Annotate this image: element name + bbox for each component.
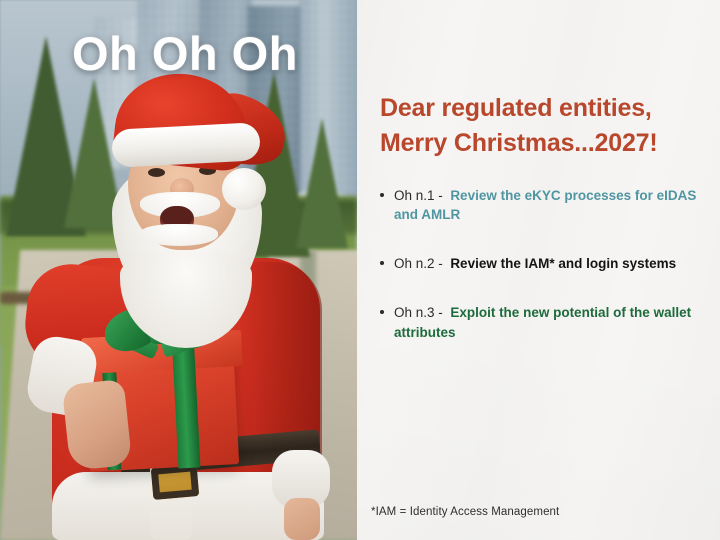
- bullet-list: Oh n.1 - Review the eKYC processes for e…: [377, 186, 715, 372]
- santa-hat-brim: [111, 122, 261, 168]
- heading-line-1: Dear regulated entities,: [380, 91, 710, 126]
- santa-photo: Oh Oh Oh: [0, 0, 357, 540]
- belt-buckle: [151, 464, 200, 500]
- beard-chin: [140, 224, 218, 246]
- content-panel: Dear regulated entities, Merry Christmas…: [357, 0, 720, 540]
- bullet-label-1: Oh n.1 -: [394, 188, 443, 203]
- bullet-text-2: Review the IAM* and login systems: [450, 256, 676, 271]
- bullet-label-3: Oh n.3 -: [394, 305, 443, 320]
- list-item: Oh n.1 - Review the eKYC processes for e…: [377, 186, 715, 224]
- santa-hat-pompom: [222, 168, 266, 210]
- santa-right-hand: [284, 498, 320, 540]
- santa-figure: [0, 0, 357, 540]
- page-title: Dear regulated entities, Merry Christmas…: [380, 91, 710, 160]
- list-item: Oh n.2 - Review the IAM* and login syste…: [377, 254, 715, 273]
- heading-line-2: Merry Christmas...2027!: [380, 126, 710, 161]
- santa-left-hand: [62, 379, 133, 471]
- footnote: *IAM = Identity Access Management: [371, 506, 559, 518]
- bullet-label-2: Oh n.2 -: [394, 256, 443, 271]
- list-item: Oh n.3 - Exploit the new potential of th…: [377, 303, 715, 341]
- slide-canvas: Oh Oh Oh Dear regulated entities, Merry …: [0, 0, 720, 540]
- eye-left: [148, 168, 165, 177]
- oh-oh-oh-caption: Oh Oh Oh: [72, 30, 298, 77]
